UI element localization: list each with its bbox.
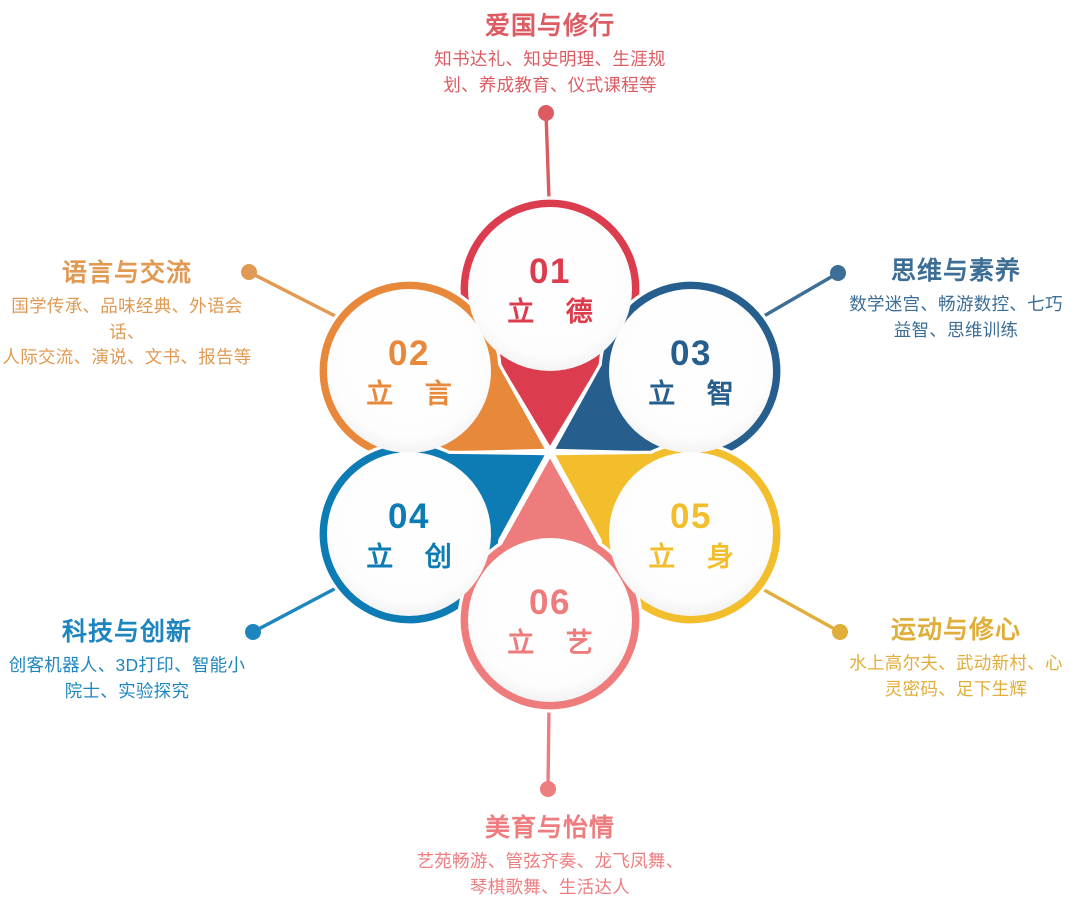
callout-title: 思维与素养 — [834, 253, 1078, 289]
callout-aiguo-yu-xiuxing[interactable]: 爱国与修行 知书达礼、知史明理、生涯规 划、养成教育、仪式课程等 — [382, 8, 718, 98]
petal-label-02: 立 言 — [366, 378, 464, 409]
connector-line — [757, 586, 840, 632]
callout-title: 科技与创新 — [2, 614, 252, 650]
petal-number-02: 02 — [388, 334, 430, 373]
petal-label-04: 立 创 — [366, 541, 464, 572]
callout-desc-line-1: 艺苑畅游、管弦齐奏、龙飞凤舞、 — [382, 849, 718, 874]
flower-diagram: 01立 德02立 言03立 智04立 创05立 身06立 艺 — [0, 0, 1080, 908]
connector-line — [548, 706, 549, 789]
petal-label-01: 立 德 — [507, 296, 605, 327]
callout-desc-line-1: 国学传承、品味经典、外语会话、 — [2, 294, 252, 345]
callout-desc-line-1: 知书达礼、知史明理、生涯规 — [382, 47, 718, 72]
petal-number-01: 01 — [529, 252, 571, 291]
petal-label-05: 立 身 — [648, 541, 746, 572]
callout-title: 运动与修心 — [834, 612, 1078, 648]
callout-desc-line-1: 创客机器人、3D打印、智能小 — [2, 653, 252, 678]
petal-label-06: 立 艺 — [507, 627, 605, 658]
callout-desc-line-1: 数学迷宫、畅游数控、七巧 — [834, 292, 1078, 317]
connector-line — [757, 273, 838, 320]
connector-dot — [538, 105, 554, 121]
infographic-canvas: 01立 德02立 言03立 智04立 创05立 身06立 艺 爱国与修行 知书达… — [0, 0, 1080, 908]
petal-label-03: 立 智 — [648, 378, 746, 409]
callout-desc-line-2: 益智、思维训练 — [834, 318, 1078, 343]
petal-number-04: 04 — [388, 497, 430, 536]
callout-desc-line-1: 水上高尔夫、武动新村、心 — [834, 651, 1078, 676]
petal-number-06: 06 — [529, 583, 571, 622]
callout-title: 爱国与修行 — [382, 8, 718, 44]
callout-yuyan-yu-jiaoliu[interactable]: 语言与交流 国学传承、品味经典、外语会话、 人际交流、演说、文书、报告等 — [2, 255, 252, 370]
petal-number-03: 03 — [670, 334, 712, 373]
callout-keji-yu-chuangxin[interactable]: 科技与创新 创客机器人、3D打印、智能小 院士、实验探究 — [2, 614, 252, 704]
connector-dot — [540, 781, 556, 797]
callout-yundong-yu-xiuxin[interactable]: 运动与修心 水上高尔夫、武动新村、心 灵密码、足下生辉 — [834, 612, 1078, 702]
connector-line — [249, 272, 343, 320]
callout-desc-line-2: 琴棋歌舞、生活达人 — [382, 875, 718, 900]
callout-desc-line-2: 院士、实验探究 — [2, 679, 252, 704]
callout-meiyu-yu-yiqing[interactable]: 美育与怡情 艺苑畅游、管弦齐奏、龙飞凤舞、 琴棋歌舞、生活达人 — [382, 810, 718, 900]
callout-siwei-yu-suyang[interactable]: 思维与素养 数学迷宫、畅游数控、七巧 益智、思维训练 — [834, 253, 1078, 343]
callout-title: 语言与交流 — [2, 255, 252, 291]
connector-line — [253, 586, 340, 632]
connector-line — [546, 113, 549, 199]
callout-desc-line-2: 灵密码、足下生辉 — [834, 677, 1078, 702]
callout-desc-line-2: 人际交流、演说、文书、报告等 — [2, 345, 252, 370]
petal-number-05: 05 — [670, 497, 712, 536]
callout-desc-line-2: 划、养成教育、仪式课程等 — [382, 73, 718, 98]
callout-title: 美育与怡情 — [382, 810, 718, 846]
